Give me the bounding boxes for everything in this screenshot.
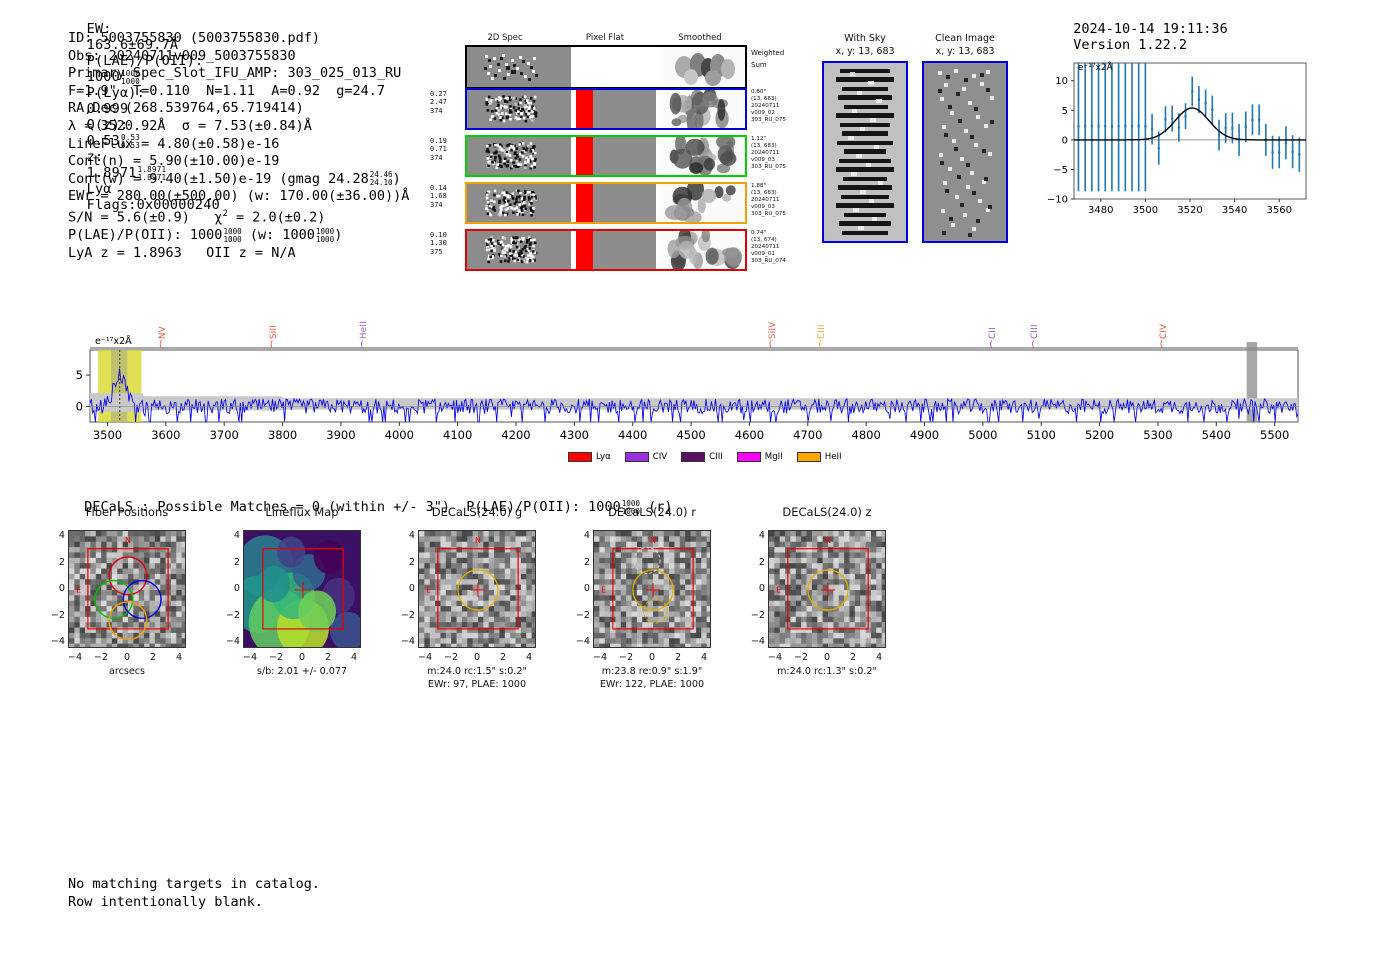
spec2d-column-title: Smoothed <box>660 33 740 43</box>
legend-item: CIV <box>625 452 667 462</box>
smoothed-graphic <box>660 231 745 269</box>
cutout-y-tick: 4 <box>225 530 240 541</box>
spec-row-meta-line: 1.12" <box>751 136 786 143</box>
cutout-title: DECaLS(24.0) g <box>418 505 536 519</box>
compass-north: N <box>475 536 481 545</box>
clean-image <box>922 61 1008 243</box>
x-tick-label: 3540 <box>1222 205 1247 216</box>
y-tick-label: 0 <box>76 399 83 413</box>
object-info-block: ID: 5003755830 (5003755830.pdf) Obs: 202… <box>68 30 409 262</box>
spec-row-meta-line: v009_02 <box>751 110 786 117</box>
spec-row-panel <box>465 182 747 224</box>
lineflux-map-graphic <box>244 531 361 648</box>
cutout-y-tick: 0 <box>50 583 65 594</box>
legend-swatch <box>625 452 649 462</box>
timestamp: 2024-10-14 19:11:36 <box>1073 21 1227 37</box>
legend-label: Lyα <box>596 452 611 462</box>
emission-line-label: SiIV <box>768 305 778 339</box>
spec-row-meta-line: 0.80" <box>751 89 786 96</box>
flux-unit-annotation: e⁻¹⁷x2Å <box>95 336 132 347</box>
y-tick-label: 5 <box>76 368 83 382</box>
y-tick-label: 0 <box>1062 135 1068 146</box>
emission-line-zoom-chart: 34803500352035403560−10−50510e⁻¹⁷x2Å <box>1040 55 1312 227</box>
version-label: Version 1.22.2 <box>1073 37 1187 53</box>
cutout-y-tick: 4 <box>575 530 590 541</box>
spec-row-stat-value: 0.27 <box>430 90 447 98</box>
compass-north: N <box>825 536 831 545</box>
cutout-image[interactable]: NE <box>593 530 711 648</box>
bottom-note-line-1: No matching targets in catalog. <box>68 875 320 893</box>
x-tick-label: 3900 <box>326 428 355 442</box>
cutout-x-tick: 4 <box>695 652 713 663</box>
cutout-title: Fiber Positions <box>68 505 186 519</box>
spec-row-pixelflat <box>571 184 657 222</box>
legend-swatch <box>681 452 705 462</box>
spec-row-panel <box>465 135 747 177</box>
x-tick-label: 4700 <box>793 428 822 442</box>
cutout-y-tick: 0 <box>575 583 590 594</box>
cutout-y-tick: 2 <box>225 557 240 568</box>
spec-row-meta-line: (13, 683) <box>751 96 786 103</box>
full-spectrum-chart: 3500360037003800390040004100420043004400… <box>0 300 1400 470</box>
cutout-x-tick: 4 <box>520 652 538 663</box>
emission-line-label: CIII <box>817 305 827 339</box>
emission-line-tick: ( <box>989 340 993 350</box>
weighted-sum-label-1: Weighted <box>751 49 784 57</box>
info-line: Obs: 20240711v009_5003755830 <box>68 48 409 66</box>
spec-row-meta-line: 20240711 <box>751 197 786 204</box>
cutout-x-tick: 4 <box>345 652 363 663</box>
smoothed-graphic <box>660 90 745 128</box>
legend-label: MgII <box>765 452 783 462</box>
emission-line-label: SiII <box>269 305 279 339</box>
sky-cutout-graphic: NE <box>69 531 186 648</box>
emission-line-label: CII <box>988 305 998 339</box>
spec-row-pixelflat <box>571 231 657 269</box>
info-line-ewr: EWr = 280.00(±500.00) (w: 170.00(±36.00)… <box>68 188 409 206</box>
spec-row-meta-line: (13, 674) <box>751 237 786 244</box>
spectrum-legend: LyαCIVCIIIMgIIHeII <box>568 452 842 462</box>
cutout-image[interactable] <box>243 530 361 648</box>
smoothed-graphic <box>660 47 745 87</box>
spec-row-smoothed <box>660 137 745 175</box>
cutout-title: DECaLS(24.0) z <box>768 505 886 519</box>
smoothed-graphic <box>660 137 745 175</box>
full-spectrum-svg: 3500360037003800390040004100420043004400… <box>0 300 1400 470</box>
cutout-y-tick: −2 <box>225 610 240 621</box>
x-tick-label: 3480 <box>1088 205 1113 216</box>
spec2d-column-title: 2D Spec <box>465 33 545 43</box>
spec-row-pixelflat <box>571 137 657 175</box>
cutout-x-tick: −4 <box>241 652 259 663</box>
cutout-caption: EWr: 97, PLAE: 1000 <box>390 679 564 691</box>
cutout-image[interactable]: NE <box>768 530 886 648</box>
spec-row-meta-line: 20240711 <box>751 150 786 157</box>
cutout-axis-label: arcsecs <box>68 666 186 678</box>
info-line-redshift: LyA z = 1.8963 OII z = N/A <box>68 245 409 263</box>
pixelflat-red-marker <box>576 137 593 175</box>
legend-swatch <box>797 452 821 462</box>
emission-line-label: NV <box>158 305 168 339</box>
cutout-panel-row: Fiber PositionsNE420−2−4−4−2024arcsecsLi… <box>0 505 1400 735</box>
weighted-sum-pixelflat <box>571 47 657 87</box>
compass-east: E <box>601 585 606 594</box>
header-timestamp-version: 2024-10-14 19:11:36 Version 1.22.2 <box>1057 5 1244 53</box>
spec-row-meta-line: 303_RU_075 <box>751 164 786 171</box>
info-line-sn: S/N = 5.6(±0.9) χ2 = 2.0(±0.2) <box>68 206 409 227</box>
emission-line-label: HeII <box>359 305 369 339</box>
cutout-y-tick: 4 <box>750 530 765 541</box>
cutout-x-tick: −4 <box>416 652 434 663</box>
cutout-x-tick: 2 <box>669 652 687 663</box>
cutout-x-tick: 0 <box>468 652 486 663</box>
info-line: F=1.9" T=0.110 N=1.11 A=0.92 g=24.7 <box>68 83 409 101</box>
x-tick-label: 4400 <box>618 428 647 442</box>
spec-row-meta: 0.80"(13, 683)20240711v009_02303_RU_075 <box>751 89 786 124</box>
cutout-x-tick: −2 <box>92 652 110 663</box>
compass-north: N <box>125 536 131 545</box>
spec-row-stat-value: 0.14 <box>430 184 447 192</box>
clean-image-graphic <box>924 63 1006 241</box>
emission-line-tick: ( <box>1031 340 1035 350</box>
cutout-y-tick: 0 <box>400 583 415 594</box>
spec-row-2dspec <box>467 231 571 269</box>
x-tick-label: 3520 <box>1177 205 1202 216</box>
cutout-title: Lineflux Map <box>243 505 361 519</box>
cutout-image[interactable]: NE <box>68 530 186 648</box>
bottom-note: No matching targets in catalog. Row inte… <box>68 875 320 911</box>
cutout-y-tick: −4 <box>575 636 590 647</box>
spec-row-meta-line: (13, 683) <box>751 190 786 197</box>
spec-row-stat-value: 374 <box>430 154 447 162</box>
emission-line-tick: ( <box>159 340 163 350</box>
y-tick-label: 5 <box>1062 106 1068 117</box>
x-tick-label: 3600 <box>151 428 180 442</box>
cutout-x-tick: 2 <box>319 652 337 663</box>
x-tick-label: 3500 <box>1133 205 1158 216</box>
spec-row-stat-value: 375 <box>430 248 447 256</box>
bottom-note-line-2: Row intentionally blank. <box>68 893 320 911</box>
x-tick-label: 4800 <box>852 428 881 442</box>
spec-row-stats: 0.272.47374 <box>430 90 447 115</box>
cutout-y-tick: 0 <box>225 583 240 594</box>
info-line: ID: 5003755830 (5003755830.pdf) <box>68 30 409 48</box>
x-tick-label: 5000 <box>968 428 997 442</box>
compass-east: E <box>76 585 81 594</box>
cutout-x-tick: 0 <box>818 652 836 663</box>
legend-swatch <box>737 452 761 462</box>
spec-row-panel <box>465 229 747 271</box>
cutout-y-tick: −4 <box>225 636 240 647</box>
sky-cutout-graphic: NE <box>594 531 711 648</box>
x-tick-label: 5500 <box>1260 428 1289 442</box>
x-tick-label: 3500 <box>93 428 122 442</box>
info-line: LineFlux = 4.80(±0.58)e-16 <box>68 136 409 154</box>
spec-row-meta-line: (13, 683) <box>751 143 786 150</box>
info-line: λ = 3520.92Å σ = 7.53(±0.84)Å <box>68 118 409 136</box>
noise-graphic <box>467 184 571 222</box>
cutout-image[interactable]: NE <box>418 530 536 648</box>
emission-line-label: CIII <box>1030 305 1040 339</box>
noise-graphic <box>467 47 571 87</box>
cutout-x-tick: 2 <box>144 652 162 663</box>
info-line: RA,Dec (268.539764,65.719414) <box>68 100 409 118</box>
cutout-y-tick: 4 <box>400 530 415 541</box>
cutout-y-tick: 2 <box>750 557 765 568</box>
compass-east: E <box>426 585 431 594</box>
x-tick-label: 5200 <box>1085 428 1114 442</box>
cutout-caption: m:24.0 rc:1.5" s:0.2" <box>390 666 564 678</box>
y-tick-label: −5 <box>1053 165 1068 176</box>
spec-row-stats: 0.190.71374 <box>430 137 447 162</box>
spec-row-meta-line: 303_RU_075 <box>751 211 786 218</box>
cutout-x-tick: −2 <box>442 652 460 663</box>
noise-graphic <box>467 90 571 128</box>
plae-bounds-a: 10001000 <box>223 228 241 244</box>
spec-row-meta-line: v009_01 <box>751 251 786 258</box>
x-tick-label: 4500 <box>676 428 705 442</box>
spec-row-meta-line: 303_RU_075 <box>751 117 786 124</box>
spec-row-stats: 0.141.68374 <box>430 184 447 209</box>
spec-row-meta: 1.88"(13, 683)20240711v009_03303_RU_075 <box>751 183 786 218</box>
x-tick-label: 4600 <box>735 428 764 442</box>
legend-item: CIII <box>681 452 723 462</box>
cutout-y-tick: 2 <box>400 557 415 568</box>
cutout-y-tick: 2 <box>575 557 590 568</box>
cutout-x-tick: −4 <box>591 652 609 663</box>
noise-graphic <box>467 231 571 269</box>
emission-line-tick: ( <box>360 340 364 350</box>
emission-line-tick: ( <box>818 340 822 350</box>
cutout-y-tick: −4 <box>400 636 415 647</box>
spec-row-meta-line: 1.88" <box>751 183 786 190</box>
cutout-y-tick: 4 <box>50 530 65 541</box>
spec-row-meta-line: 20240711 <box>751 103 786 110</box>
spec-row-2dspec <box>467 90 571 128</box>
spec-row-meta-line: v009_03 <box>751 204 786 211</box>
smoothed-graphic <box>660 184 745 222</box>
spec-row-meta: 0.74"(13, 674)20240711v009_01303_RU_074 <box>751 230 786 265</box>
spec-row-stat-value: 1.30 <box>430 239 447 247</box>
emission-line-tick: ( <box>270 340 274 350</box>
weighted-sum-label-2: Sum <box>751 61 767 69</box>
cutout-x-tick: 2 <box>844 652 862 663</box>
clean-image-subtitle: x, y: 13, 683 <box>918 46 1012 57</box>
spec-row-stats: 0.101.30375 <box>430 231 447 256</box>
legend-item: MgII <box>737 452 783 462</box>
cutout-x-tick: 0 <box>643 652 661 663</box>
spec-row-stat-value: 374 <box>430 107 447 115</box>
spec-row-meta: 1.12"(13, 683)20240711v009_03303_RU_075 <box>751 136 786 171</box>
x-tick-label: 4300 <box>560 428 589 442</box>
spec-row-2dspec <box>467 137 571 175</box>
cutout-x-tick: 0 <box>293 652 311 663</box>
info-line: Cont(n) = 5.90(±10.00)e-19 <box>68 153 409 171</box>
x-tick-label: 4900 <box>910 428 939 442</box>
emission-zoom-svg: 34803500352035403560−10−50510 <box>1040 55 1312 227</box>
compass-north: N <box>650 536 656 545</box>
y-tick-label: −10 <box>1047 195 1068 206</box>
gmag-bounds: 24.4624.10 <box>370 171 393 187</box>
cutout-x-tick: 4 <box>170 652 188 663</box>
x-tick-label: 5400 <box>1202 428 1231 442</box>
sky-image-graphic <box>824 63 906 241</box>
weighted-sum-strip <box>465 45 747 89</box>
spec-row-panel <box>465 88 747 130</box>
cutout-x-tick: −4 <box>766 652 784 663</box>
cutout-y-tick: 2 <box>50 557 65 568</box>
compass-east: E <box>776 585 781 594</box>
spec-row-stat-value: 374 <box>430 201 447 209</box>
spec-row-stat-value: 1.68 <box>430 192 447 200</box>
weighted-sum-smoothed <box>660 47 745 87</box>
x-tick-label: 3700 <box>210 428 239 442</box>
x-tick-label: 5300 <box>1143 428 1172 442</box>
pixelflat-red-marker <box>576 184 593 222</box>
cutout-x-tick: 2 <box>494 652 512 663</box>
cutout-caption: m:24.0 rc:1.3" s:0.2" <box>740 666 914 678</box>
pixelflat-red-marker <box>576 90 593 128</box>
sky-cutout-graphic: NE <box>419 531 536 648</box>
spec-row-stat-value: 0.10 <box>430 231 447 239</box>
info-line-plae: P(LAE)/P(OII): 100010001000 (w: 10001000… <box>68 227 409 245</box>
clean-image-title: Clean Image <box>918 33 1012 44</box>
info-line-cont-w: Cont(w) = 9.40(±1.50)e-19 (gmag 24.2824.… <box>68 171 409 189</box>
with-sky-image <box>822 61 908 243</box>
sky-cutout-graphic: NE <box>769 531 886 648</box>
emission-line-label: CIV <box>1159 305 1169 339</box>
cutout-caption: s/b: 2.01 +/- 0.077 <box>215 666 389 678</box>
cutout-x-tick: 4 <box>870 652 888 663</box>
legend-label: HeII <box>825 452 842 462</box>
spec2d-column-title: Pixel Flat <box>565 33 645 43</box>
x-tick-label: 4000 <box>385 428 414 442</box>
cutout-y-tick: −2 <box>400 610 415 621</box>
cutout-y-tick: −2 <box>575 610 590 621</box>
legend-swatch <box>568 452 592 462</box>
x-tick-label: 3560 <box>1267 205 1292 216</box>
cutout-x-tick: −2 <box>267 652 285 663</box>
cutout-x-tick: −2 <box>617 652 635 663</box>
weighted-sum-2dspec <box>467 47 571 87</box>
cutout-y-tick: −2 <box>750 610 765 621</box>
emission-line-tick: ( <box>769 340 773 350</box>
x-tick-label: 3800 <box>268 428 297 442</box>
plae-bounds-b: 10001000 <box>316 228 334 244</box>
cutout-x-tick: −2 <box>792 652 810 663</box>
cutout-y-tick: −2 <box>50 610 65 621</box>
spec-row-smoothed <box>660 90 745 128</box>
cutout-caption: EWr: 122, PLAE: 1000 <box>565 679 739 691</box>
cutout-y-tick: −4 <box>50 636 65 647</box>
spec-row-pixelflat <box>571 90 657 128</box>
with-sky-title: With Sky <box>818 33 912 44</box>
x-tick-label: 5100 <box>1027 428 1056 442</box>
spec-row-meta-line: v009_03 <box>751 157 786 164</box>
spec-row-stat-value: 0.71 <box>430 145 447 153</box>
x-tick-label: 4200 <box>501 428 530 442</box>
legend-label: CIII <box>709 452 723 462</box>
legend-item: HeII <box>797 452 842 462</box>
x-tick-label: 4100 <box>443 428 472 442</box>
cutout-caption: m:23.8 re:0.9" s:1.9" <box>565 666 739 678</box>
cutout-y-tick: 0 <box>750 583 765 594</box>
emission-line-tick: ( <box>1160 340 1164 350</box>
noise-graphic <box>467 137 571 175</box>
with-sky-subtitle: x, y: 13, 683 <box>818 46 912 57</box>
spec-row-meta-line: 0.74" <box>751 230 786 237</box>
spec-row-smoothed <box>660 231 745 269</box>
spec-row-stat-value: 2.47 <box>430 98 447 106</box>
spec-row-stat-value: 0.19 <box>430 137 447 145</box>
legend-item: Lyα <box>568 452 611 462</box>
spec-row-meta-line: 20240711 <box>751 244 786 251</box>
pixelflat-red-marker <box>576 231 593 269</box>
y-tick-label: 10 <box>1055 76 1068 87</box>
cutout-x-tick: 0 <box>118 652 136 663</box>
info-line: Primary Spec_Slot_IFU_AMP: 303_025_013_R… <box>68 65 409 83</box>
cutout-title: DECaLS(24.0) r <box>593 505 711 519</box>
cutout-y-tick: −4 <box>750 636 765 647</box>
legend-label: CIV <box>653 452 667 462</box>
spec-row-meta-line: 303_RU_074 <box>751 258 786 265</box>
flux-unit-annotation: e⁻¹⁷x2Å <box>1078 63 1113 73</box>
spec-row-smoothed <box>660 184 745 222</box>
spec-row-2dspec <box>467 184 571 222</box>
cutout-x-tick: −4 <box>66 652 84 663</box>
